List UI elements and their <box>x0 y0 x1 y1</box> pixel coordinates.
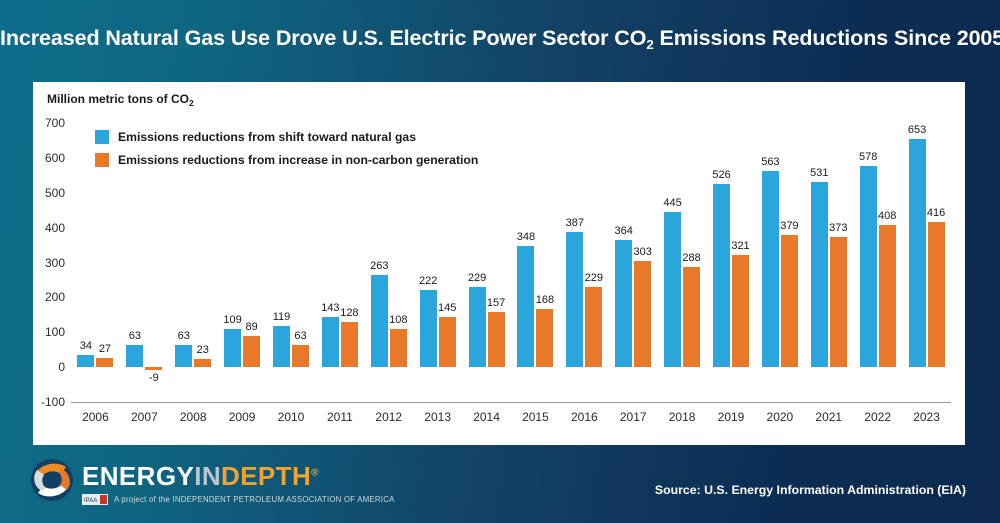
bar-noncarbon-2022 <box>879 225 896 367</box>
bar-value-label: 303 <box>634 246 652 258</box>
bar-value-label: 27 <box>99 343 111 355</box>
x-axis-tick-label: 2022 <box>864 410 891 424</box>
bar-value-label: 526 <box>712 169 730 181</box>
bar-gas-2014 <box>469 287 486 367</box>
bar-noncarbon-2009 <box>243 336 260 367</box>
bar-noncarbon-2017 <box>634 261 651 367</box>
infographic-root: Increased Natural Gas Use Drove U.S. Ele… <box>0 0 1000 523</box>
bar-value-label: 23 <box>197 344 209 356</box>
ipaa-logo-icon: IPAA <box>82 494 108 505</box>
svg-text:IPAA: IPAA <box>84 498 97 504</box>
y-axis-tick-label: 400 <box>33 221 65 235</box>
legend-item-noncarbon: Emissions reductions from increase in no… <box>95 153 478 167</box>
bar-gas-2015 <box>517 246 534 367</box>
page-title-subscript: 2 <box>646 37 653 52</box>
bar-value-label: -9 <box>149 372 159 384</box>
x-axis-tick-label: 2006 <box>82 410 109 424</box>
bar-gas-2019 <box>713 184 730 367</box>
y-axis-tick-label: -100 <box>33 395 65 409</box>
y-axis-tick-label: 500 <box>33 186 65 200</box>
bar-gas-2020 <box>762 171 779 367</box>
y-axis-tick-label: 200 <box>33 290 65 304</box>
x-axis-tick-label: 2008 <box>180 410 207 424</box>
energy-in-depth-swirl-icon <box>28 457 76 503</box>
page-title-text-post: Emissions Reductions Since 2005 <box>654 26 1000 50</box>
legend-item-gas: Emissions reductions from shift toward n… <box>95 130 478 144</box>
bar-value-label: 128 <box>340 307 358 319</box>
bar-value-label: 109 <box>223 314 241 326</box>
bar-gas-2021 <box>811 182 828 367</box>
bar-noncarbon-2013 <box>439 317 456 368</box>
bar-noncarbon-2007 <box>145 367 162 370</box>
bar-value-label: 63 <box>294 330 306 342</box>
bar-gas-2011 <box>322 317 339 367</box>
bar-value-label: 321 <box>731 240 749 252</box>
bar-noncarbon-2010 <box>292 345 309 367</box>
bar-gas-2017 <box>615 240 632 367</box>
legend-swatch-gas-icon <box>95 130 109 144</box>
y-axis-tick-label: 700 <box>33 116 65 130</box>
y-axis-tick-label: 0 <box>33 360 65 374</box>
bar-noncarbon-2014 <box>488 312 505 367</box>
brand-word-in: IN <box>194 461 221 491</box>
bar-value-label: 229 <box>468 272 486 284</box>
page-title: Increased Natural Gas Use Drove U.S. Ele… <box>0 26 1000 51</box>
bar-gas-2008 <box>175 345 192 367</box>
x-axis-tick-label: 2019 <box>718 410 745 424</box>
footer: ENERGYINDEPTH® IPAA A project of the IND… <box>0 445 1000 523</box>
bar-gas-2007 <box>126 345 143 367</box>
bar-gas-2023 <box>909 139 926 367</box>
brand-logo[interactable]: ENERGYINDEPTH® IPAA A project of the IND… <box>28 457 395 505</box>
x-axis-tick-label: 2009 <box>229 410 256 424</box>
brand-word-depth: DEPTH <box>221 461 311 491</box>
y-axis-tick-label: 600 <box>33 151 65 165</box>
bar-gas-2009 <box>224 329 241 367</box>
bar-value-label: 108 <box>389 314 407 326</box>
x-axis-tick-label: 2017 <box>620 410 647 424</box>
legend-label-noncarbon: Emissions reductions from increase in no… <box>118 153 478 167</box>
bar-value-label: 379 <box>780 220 798 232</box>
bar-noncarbon-2008 <box>194 359 211 367</box>
bar-value-label: 263 <box>370 260 388 272</box>
bar-value-label: 373 <box>829 222 847 234</box>
y-axis-tick-label: 300 <box>33 256 65 270</box>
x-axis-tick-label: 2021 <box>815 410 842 424</box>
bar-value-label: 348 <box>517 231 535 243</box>
legend-label-gas: Emissions reductions from shift toward n… <box>118 130 416 144</box>
x-axis-tick-label: 2013 <box>424 410 451 424</box>
bar-value-label: 288 <box>682 252 700 264</box>
x-axis-tick-label: 2014 <box>473 410 500 424</box>
brand-wordmark: ENERGYINDEPTH® <box>82 463 395 489</box>
bar-noncarbon-2006 <box>96 358 113 367</box>
brand-word-energy: ENERGY <box>82 461 194 491</box>
bar-noncarbon-2021 <box>830 237 847 367</box>
x-axis-tick-label: 2012 <box>375 410 402 424</box>
bar-gas-2013 <box>420 290 437 367</box>
bar-value-label: 63 <box>129 330 141 342</box>
x-axis-tick-label: 2020 <box>767 410 794 424</box>
legend-swatch-noncarbon-icon <box>95 153 109 167</box>
chart-panel: Million metric tons of CO2 7006005004003… <box>33 82 965 445</box>
x-axis-tick-label: 2010 <box>278 410 305 424</box>
x-axis-tick-label: 2015 <box>522 410 549 424</box>
bar-value-label: 563 <box>761 156 779 168</box>
bar-noncarbon-2020 <box>781 235 798 367</box>
bar-gas-2010 <box>273 326 290 368</box>
bar-value-label: 408 <box>878 210 896 222</box>
bar-noncarbon-2011 <box>341 322 358 367</box>
bar-gas-2022 <box>860 166 877 368</box>
bar-value-label: 416 <box>927 207 945 219</box>
bar-noncarbon-2018 <box>683 267 700 367</box>
source-attribution: Source: U.S. Energy Information Administ… <box>655 483 966 497</box>
brand-registered-mark: ® <box>311 467 319 478</box>
x-axis-tick-label: 2016 <box>571 410 598 424</box>
bar-value-label: 653 <box>908 124 926 136</box>
bar-value-label: 387 <box>566 217 584 229</box>
bar-noncarbon-2016 <box>585 287 602 367</box>
bar-value-label: 364 <box>615 225 633 237</box>
bar-gas-2018 <box>664 212 681 367</box>
bar-value-label: 229 <box>585 272 603 284</box>
bar-gas-2006 <box>77 355 94 367</box>
bar-gas-2012 <box>371 275 388 367</box>
page-title-text-pre: Increased Natural Gas Use Drove U.S. Ele… <box>0 26 646 50</box>
x-axis-tick-label: 2018 <box>669 410 696 424</box>
bar-value-label: 63 <box>178 330 190 342</box>
y-axis-tick-label: 100 <box>33 325 65 339</box>
bar-value-label: 89 <box>245 321 257 333</box>
bar-value-label: 143 <box>321 302 339 314</box>
brand-tagline-row: IPAA A project of the INDEPENDENT PETROL… <box>82 494 395 505</box>
x-axis-line <box>71 402 951 403</box>
bar-noncarbon-2023 <box>928 222 945 367</box>
bar-value-label: 222 <box>419 275 437 287</box>
x-axis-tick-label: 2007 <box>131 410 158 424</box>
x-axis-tick-label: 2023 <box>913 410 940 424</box>
bar-noncarbon-2019 <box>732 255 749 367</box>
chart-legend: Emissions reductions from shift toward n… <box>95 130 478 176</box>
bar-value-label: 157 <box>487 297 505 309</box>
bar-gas-2016 <box>566 232 583 367</box>
bar-value-label: 531 <box>810 167 828 179</box>
bar-value-label: 578 <box>859 151 877 163</box>
bar-value-label: 34 <box>80 340 92 352</box>
bar-noncarbon-2015 <box>536 309 553 368</box>
bar-value-label: 145 <box>438 302 456 314</box>
bar-noncarbon-2012 <box>390 329 407 367</box>
brand-logo-text: ENERGYINDEPTH® IPAA A project of the IND… <box>82 457 395 505</box>
bar-value-label: 445 <box>663 197 681 209</box>
bar-value-label: 119 <box>273 311 291 323</box>
brand-tagline: A project of the INDEPENDENT PETROLEUM A… <box>114 495 395 504</box>
bar-value-label: 168 <box>536 294 554 306</box>
x-axis-tick-label: 2011 <box>327 410 353 424</box>
